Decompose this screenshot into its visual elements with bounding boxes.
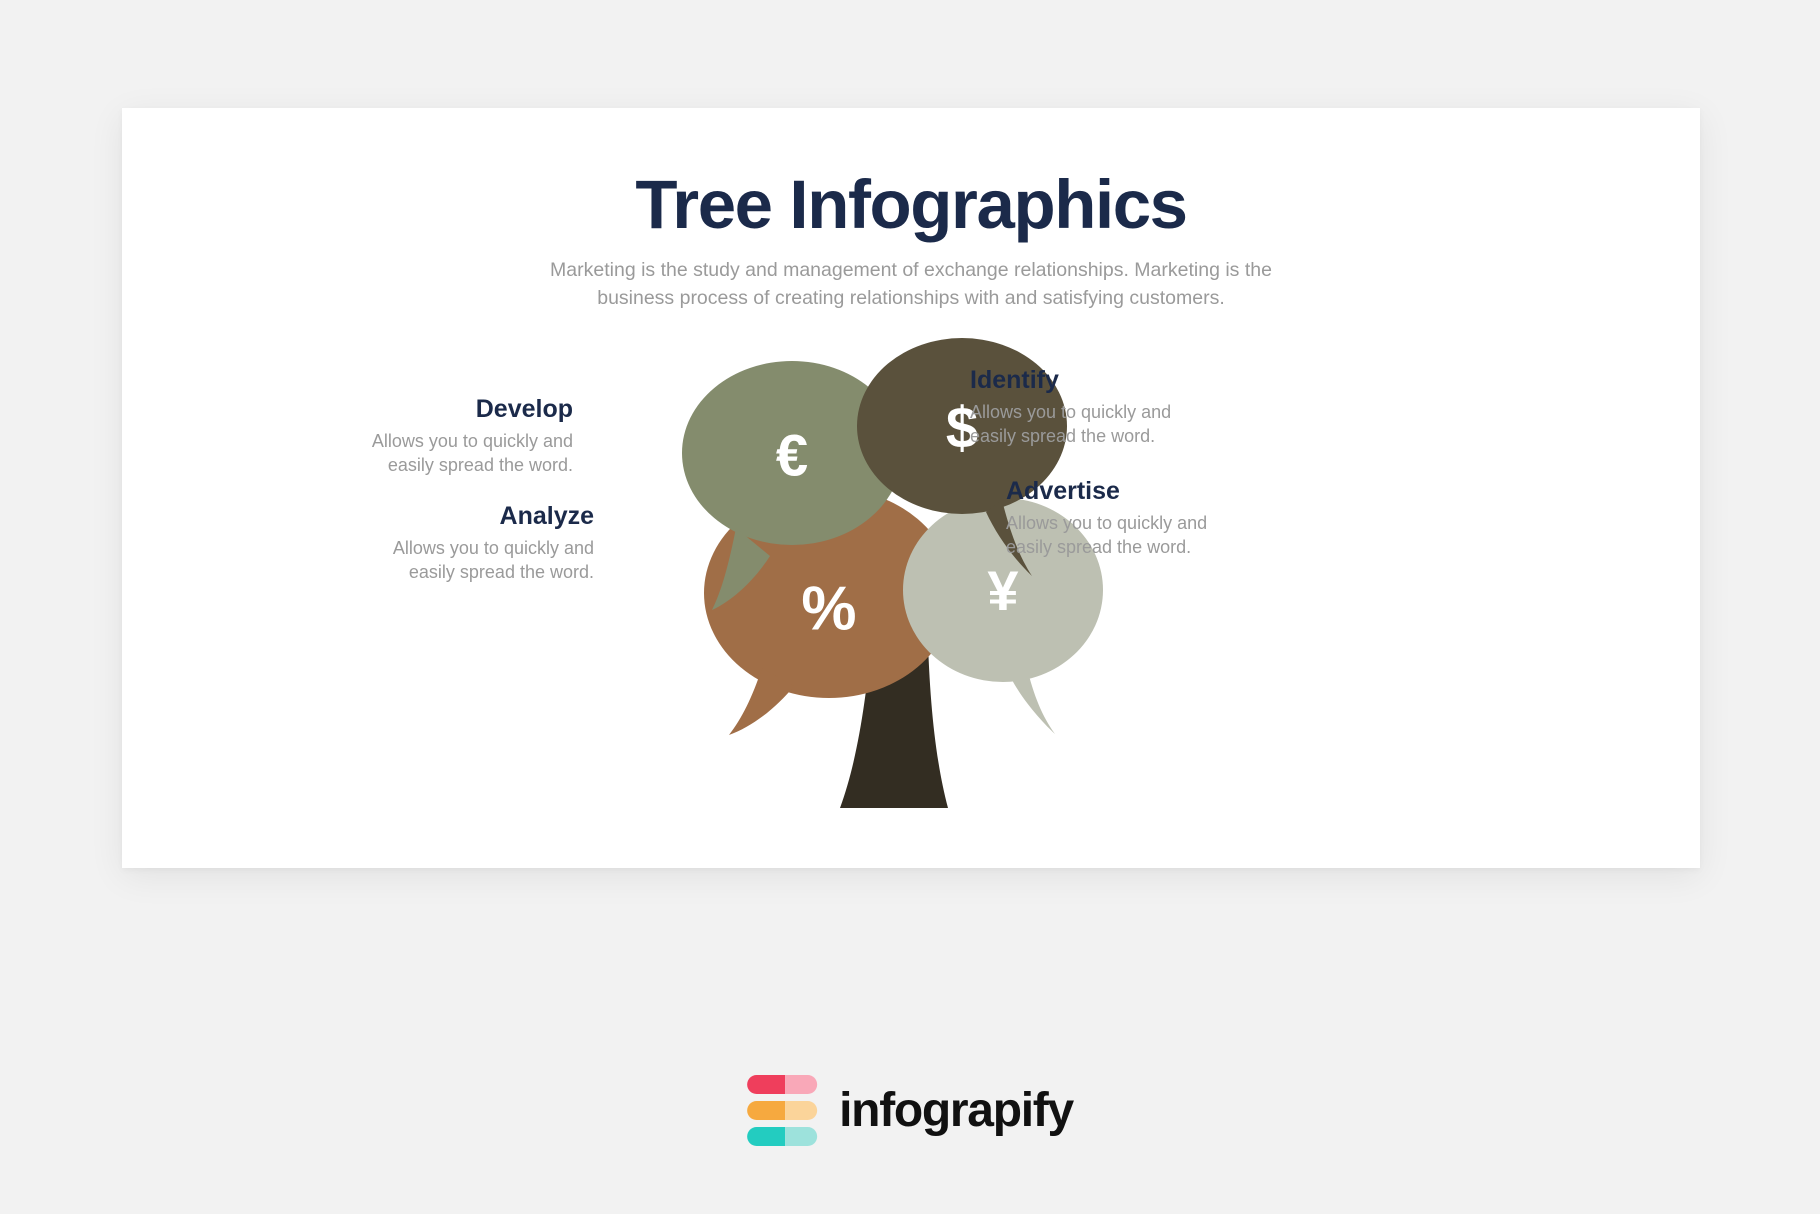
callout-analyze[interactable]: Analyze Allows you to quickly and easily… <box>314 502 594 584</box>
slide-canvas: Tree Infographics Marketing is the study… <box>0 0 1820 1214</box>
logo-bar-1 <box>747 1075 817 1094</box>
slide-card: Tree Infographics Marketing is the study… <box>122 108 1700 868</box>
euro-sign-icon: € <box>776 423 808 488</box>
callout-analyze-description: Allows you to quickly and easily spread … <box>314 537 594 585</box>
yen-sign-icon: ¥ <box>987 559 1018 622</box>
page-subtitle: Marketing is the study and management of… <box>516 256 1306 313</box>
callout-develop-description: Allows you to quickly and easily spread … <box>293 430 573 478</box>
callout-identify-description: Allows you to quickly and easily spread … <box>970 401 1260 449</box>
callout-develop-title: Develop <box>293 395 573 424</box>
logo-bar-2 <box>747 1101 817 1120</box>
bubble-develop: € <box>682 361 902 610</box>
logo-bar-3-light <box>785 1127 817 1146</box>
footer-logo[interactable]: infograpify <box>747 1075 1073 1146</box>
callout-advertise-description: Allows you to quickly and easily spread … <box>1006 512 1296 560</box>
callout-advertise-title: Advertise <box>1006 477 1296 506</box>
tree-trunk <box>840 578 948 808</box>
callout-develop[interactable]: Develop Allows you to quickly and easily… <box>293 395 573 477</box>
callout-analyze-title: Analyze <box>314 502 594 531</box>
logo-bar-1-light <box>785 1075 817 1094</box>
callout-identify-title: Identify <box>970 366 1260 395</box>
logo-bar-2-dark <box>747 1101 785 1120</box>
infograpify-logo-icon <box>747 1075 817 1146</box>
callout-advertise[interactable]: Advertise Allows you to quickly and easi… <box>1006 477 1296 559</box>
percent-sign-icon: % <box>801 574 856 643</box>
page-title: Tree Infographics <box>122 170 1700 239</box>
logo-bar-3 <box>747 1127 817 1146</box>
logo-bar-1-dark <box>747 1075 785 1094</box>
callout-identify[interactable]: Identify Allows you to quickly and easil… <box>970 366 1260 448</box>
logo-bar-2-light <box>785 1101 817 1120</box>
brand-wordmark: infograpify <box>839 1087 1073 1135</box>
bubble-analyze: % <box>704 488 954 735</box>
logo-bar-3-dark <box>747 1127 785 1146</box>
